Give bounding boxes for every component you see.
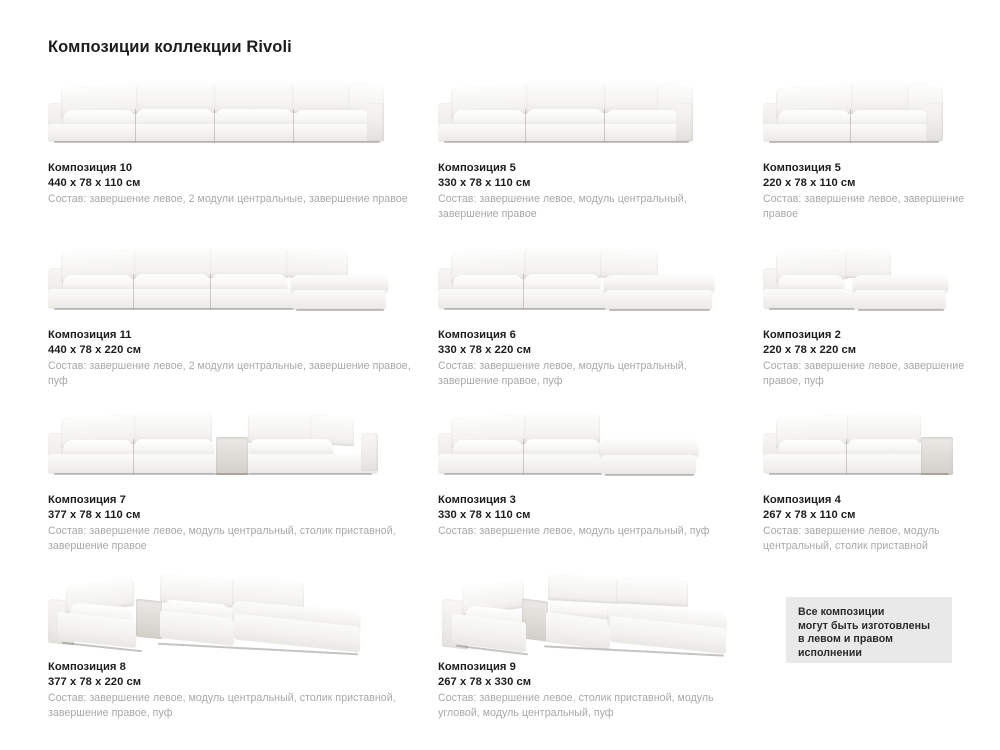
composition-name: Композиция 5 — [438, 161, 749, 176]
composition-name: Композиция 8 — [48, 660, 424, 675]
sofa-illustration — [48, 83, 384, 145]
ottoman-base — [602, 455, 696, 475]
composition-dimensions: 330 x 78 x 110 см — [438, 176, 749, 191]
module-divider — [135, 109, 136, 142]
module-divider — [846, 439, 847, 474]
composition-caption: Композиция 6 330 x 78 x 220 см Состав: з… — [438, 328, 749, 388]
sofa-illustration — [438, 246, 714, 312]
composition-dimensions: 440 x 78 x 110 см — [48, 176, 424, 191]
composition-image-composition-5-330 — [438, 79, 749, 157]
module-divider — [293, 109, 294, 142]
composition-name: Композиция 3 — [438, 493, 749, 508]
composition-description: Состав: завершение левое, модуль централ… — [48, 691, 424, 720]
composition-caption: Композиция 5 330 x 78 x 110 см Состав: з… — [438, 161, 749, 221]
arm-right — [367, 103, 384, 141]
composition-card-composition-10[interactable]: Композиция 10 440 x 78 x 110 см Состав: … — [48, 79, 438, 244]
ground-shadow — [609, 309, 710, 311]
composition-description: Состав: завершение левое, модуль централ… — [763, 524, 986, 553]
ottoman-base — [606, 290, 712, 310]
ground-shadow — [858, 309, 944, 311]
composition-card-composition-2[interactable]: Композиция 2 220 x 78 x 220 см Состав: з… — [763, 244, 1000, 407]
composition-image-composition-9 — [438, 570, 749, 656]
ground-shadow — [54, 473, 372, 475]
production-note-box: Все композиции могут быть изготовлены в … — [786, 597, 952, 663]
composition-description: Состав: завершение левое, модуль централ… — [438, 359, 749, 388]
ground-shadow — [769, 141, 939, 143]
sofa-base — [48, 124, 384, 142]
composition-name: Композиция 5 — [763, 161, 986, 176]
module-divider — [133, 274, 134, 309]
composition-dimensions: 267 x 78 x 110 см — [763, 508, 986, 523]
ground-shadow — [769, 473, 949, 475]
side-table-module — [921, 437, 953, 475]
note-line-2: могут быть изготовлены — [798, 620, 942, 634]
arm-right — [361, 433, 378, 471]
composition-caption: Композиция 4 267 x 78 x 110 см Состав: з… — [763, 493, 986, 553]
module-divider — [210, 274, 211, 309]
composition-dimensions: 377 x 78 x 220 см — [48, 675, 424, 690]
composition-description: Состав: завершение левое, завершение пра… — [763, 359, 986, 388]
module-divider — [604, 109, 605, 142]
composition-card-composition-5-330[interactable]: Композиция 5 330 x 78 x 110 см Состав: з… — [438, 79, 763, 244]
side-table-module — [216, 437, 248, 475]
sofa-base — [48, 454, 216, 474]
composition-caption: Композиция 5 220 x 78 x 110 см Состав: з… — [763, 161, 986, 221]
composition-card-composition-8[interactable]: Композиция 8 377 x 78 x 220 см Состав: з… — [48, 570, 438, 730]
composition-dimensions: 220 x 78 x 110 см — [763, 176, 986, 191]
composition-name: Композиция 10 — [48, 161, 424, 176]
note-line-1: Все композиции — [798, 606, 942, 620]
composition-dimensions: 220 x 78 x 220 см — [763, 343, 986, 358]
composition-name: Композиция 7 — [48, 493, 424, 508]
composition-description: Состав: завершение левое, модуль централ… — [48, 524, 424, 553]
module-divider — [523, 274, 524, 309]
composition-caption: Композиция 3 330 x 78 x 110 см Состав: з… — [438, 493, 749, 539]
composition-image-composition-6 — [438, 244, 749, 324]
catalog-page: Композиции коллекции Rivoli — [0, 0, 1000, 750]
sofa-base — [763, 454, 923, 474]
sofa-illustration — [438, 411, 698, 477]
note-line-4: исполнении — [798, 647, 942, 661]
sofa-base — [248, 454, 378, 474]
sofa-illustration — [438, 83, 693, 145]
composition-caption: Композиция 11 440 x 78 x 220 см Состав: … — [48, 328, 424, 388]
composition-image-composition-8 — [48, 570, 424, 656]
composition-image-composition-3 — [438, 407, 749, 489]
back-cushion — [616, 577, 688, 607]
sofa-illustration — [48, 246, 388, 312]
ottoman-base — [855, 290, 946, 310]
note-line-3: в левом и правом — [798, 633, 942, 647]
ground-shadow — [444, 141, 689, 143]
sofa-base — [438, 454, 602, 474]
composition-dimensions: 377 x 78 x 110 см — [48, 508, 424, 523]
composition-caption: Композиция 8 377 x 78 x 220 см Состав: з… — [48, 660, 424, 720]
sofa-illustration — [48, 411, 378, 477]
sofa-base — [438, 289, 606, 309]
module-divider — [133, 439, 134, 474]
module-divider — [850, 109, 851, 142]
side-table-module — [136, 599, 162, 640]
composition-card-composition-4[interactable]: Композиция 4 267 x 78 x 110 см Состав: з… — [763, 407, 1000, 570]
composition-dimensions: 330 x 78 x 220 см — [438, 343, 749, 358]
ground-shadow — [54, 308, 294, 310]
ground-shadow — [296, 309, 384, 311]
ground-shadow — [444, 308, 606, 310]
sofa-illustration — [48, 572, 363, 650]
composition-image-composition-7 — [48, 407, 424, 489]
composition-image-composition-11 — [48, 244, 424, 324]
composition-name: Композиция 6 — [438, 328, 749, 343]
composition-image-composition-4 — [763, 407, 986, 489]
composition-image-composition-5-220 — [763, 79, 986, 157]
composition-description: Состав: завершение левое, завершение пра… — [763, 192, 986, 221]
sofa-base — [763, 289, 855, 309]
ground-shadow — [769, 308, 855, 310]
composition-caption: Композиция 7 377 x 78 x 110 см Состав: з… — [48, 493, 424, 553]
composition-card-composition-11[interactable]: Композиция 11 440 x 78 x 220 см Состав: … — [48, 244, 438, 407]
composition-caption: Композиция 2 220 x 78 x 220 см Состав: з… — [763, 328, 986, 388]
composition-description: Состав: завершение левое, столик пристав… — [438, 691, 749, 720]
composition-name: Композиция 4 — [763, 493, 986, 508]
back-cushion — [548, 574, 620, 604]
composition-name: Композиция 9 — [438, 660, 749, 675]
composition-description: Состав: завершение левое, 2 модули центр… — [48, 192, 424, 207]
composition-dimensions: 440 x 78 x 220 см — [48, 343, 424, 358]
composition-image-composition-10 — [48, 79, 424, 157]
sofa-base — [763, 124, 943, 142]
sofa-illustration — [763, 411, 953, 477]
sofa-base — [48, 289, 293, 309]
composition-caption: Композиция 9 267 x 78 x 330 см Состав: з… — [438, 660, 749, 720]
sofa-base — [438, 124, 693, 142]
module-divider — [525, 109, 526, 142]
composition-image-composition-2 — [763, 244, 986, 324]
sofa-illustration — [438, 572, 728, 650]
composition-description: Состав: завершение левое, модуль централ… — [438, 524, 749, 539]
arm-right — [676, 103, 693, 141]
page-title: Композиции коллекции Rivoli — [48, 38, 960, 57]
module-divider — [523, 439, 524, 474]
composition-card-composition-6[interactable]: Композиция 6 330 x 78 x 220 см Состав: з… — [438, 244, 763, 407]
composition-description: Состав: завершение левое, модуль централ… — [438, 192, 749, 221]
composition-card-composition-3[interactable]: Композиция 3 330 x 78 x 110 см Состав: з… — [438, 407, 763, 570]
sofa-illustration — [763, 83, 943, 145]
composition-dimensions: 330 x 78 x 110 см — [438, 508, 749, 523]
composition-caption: Композиция 10 440 x 78 x 110 см Состав: … — [48, 161, 424, 207]
composition-name: Композиция 11 — [48, 328, 424, 343]
composition-dimensions: 267 x 78 x 330 см — [438, 675, 749, 690]
sofa-illustration — [763, 246, 948, 312]
composition-card-composition-5-220[interactable]: Композиция 5 220 x 78 x 110 см Состав: з… — [763, 79, 1000, 244]
module-divider — [214, 109, 215, 142]
composition-card-composition-9[interactable]: Композиция 9 267 x 78 x 330 см Состав: з… — [438, 570, 763, 730]
composition-description: Состав: завершение левое, 2 модули центр… — [48, 359, 424, 388]
composition-name: Композиция 2 — [763, 328, 986, 343]
arm-right — [926, 103, 943, 141]
ground-shadow — [605, 474, 694, 476]
ground-shadow — [54, 141, 380, 143]
composition-card-composition-7[interactable]: Композиция 7 377 x 78 x 110 см Состав: з… — [48, 407, 438, 570]
ground-shadow — [444, 473, 602, 475]
ottoman-base — [293, 290, 386, 310]
